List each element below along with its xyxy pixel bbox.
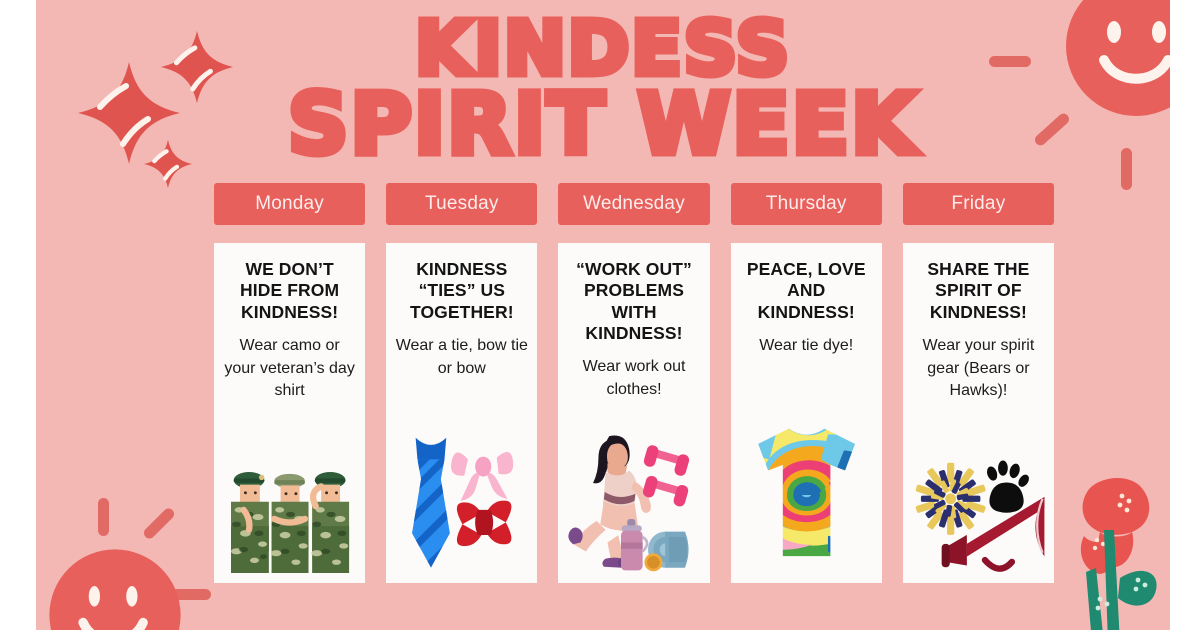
day-card-wednesday[interactable]: “WORK OUT” PROBLEMS WITH KINDNESS! Wear … (558, 243, 709, 583)
pink-bow (451, 452, 513, 501)
poster-root: KINDESS SPIRIT WEEK Monday Tuesday Wedne… (0, 0, 1200, 630)
sun-ray (98, 498, 109, 536)
card-heading: PEACE, LOVE AND KINDNESS! (739, 259, 874, 323)
water-bottle (621, 519, 647, 570)
card-subtext: Wear a tie, bow tie or bow (394, 335, 529, 380)
sparkle-star-medium (158, 28, 236, 106)
card-heading: SHARE THE SPIRIT OF KINDNESS! (911, 259, 1046, 323)
card-subtext: Wear tie dye! (759, 335, 853, 358)
day-tab-thursday[interactable]: Thursday (731, 183, 882, 225)
paw-print-icon (985, 461, 1031, 513)
card-heading: KINDNESS “TIES” US TOGETHER! (394, 259, 529, 323)
day-card-monday[interactable]: WE DON’T HIDE FROM KINDNESS! Wear camo o… (214, 243, 365, 583)
card-subtext: Wear your spirit gear (Bears or Hawks)! (911, 335, 1046, 403)
day-tabs: Monday Tuesday Wednesday Thursday Friday (214, 183, 1054, 225)
pompom-paw-megaphone-illustration (911, 451, 1046, 579)
sun-ray (989, 56, 1031, 67)
workout-woman-dumbbells-illustration (566, 423, 701, 579)
red-bow-tie (457, 501, 512, 547)
card-subtext: Wear work out clothes! (566, 356, 701, 401)
card-heading: “WORK OUT” PROBLEMS WITH KINDNESS! (566, 259, 701, 344)
sun-ray (142, 506, 177, 541)
day-card-thursday[interactable]: PEACE, LOVE AND KINDNESS! Wear tie dye! (731, 243, 882, 583)
tie-dye-shirt-illustration (739, 411, 874, 579)
day-tab-monday[interactable]: Monday (214, 183, 365, 225)
necktie-and-bows-illustration (394, 419, 529, 579)
poster-canvas: KINDESS SPIRIT WEEK Monday Tuesday Wedne… (36, 0, 1170, 630)
day-card-tuesday[interactable]: KINDNESS “TIES” US TOGETHER! Wear a tie,… (386, 243, 537, 583)
sun-ray (1121, 148, 1132, 190)
smiley-sun-top-right (1056, 0, 1170, 126)
day-tab-tuesday[interactable]: Tuesday (386, 183, 537, 225)
smiley-sun-bottom-left (40, 540, 190, 630)
day-card-friday[interactable]: SHARE THE SPIRIT OF KINDNESS! Wear your … (903, 243, 1054, 583)
card-subtext: Wear camo or your veteran’s day shirt (222, 335, 357, 403)
sparkle-star-small (142, 138, 194, 190)
day-tab-wednesday[interactable]: Wednesday (558, 183, 709, 225)
camo-soldiers-illustration (222, 457, 357, 579)
yoga-mat (645, 532, 689, 572)
tulip-flower (1056, 468, 1170, 630)
day-tab-friday[interactable]: Friday (903, 183, 1054, 225)
day-cards: WE DON’T HIDE FROM KINDNESS! Wear camo o… (214, 243, 1054, 583)
pink-dumbbells (642, 444, 691, 508)
pom-pom (915, 463, 986, 535)
card-heading: WE DON’T HIDE FROM KINDNESS! (222, 259, 357, 323)
